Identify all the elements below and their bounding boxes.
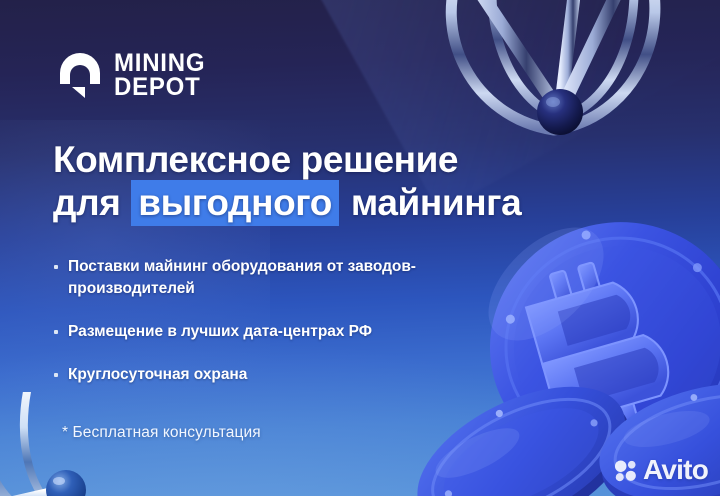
arc-chevron-logo-icon (57, 53, 103, 99)
list-item-label: Круглосуточная охрана (68, 364, 247, 386)
brand-logo: MINING DEPOT (57, 52, 209, 100)
bullet-dot-icon (54, 373, 58, 377)
logo-text-depot: DEPOT (114, 76, 205, 100)
list-item: Размещение в лучших дата-центрах РФ (50, 321, 450, 343)
bullet-dot-icon (54, 330, 58, 334)
bullet-dot-icon (54, 265, 58, 269)
avito-wordmark: Avito (643, 456, 708, 484)
avito-watermark: Avito (614, 456, 708, 484)
molecule-chrome-icon (0, 392, 138, 496)
list-item: Поставки майнинг оборудования от заводов… (50, 256, 450, 300)
headline-prefix: для (53, 182, 130, 223)
footnote-text: * Бесплатная консультация (62, 424, 261, 442)
headline-suffix: майнинга (341, 182, 521, 223)
feature-list: Поставки майнинг оборудования от заводов… (50, 256, 450, 407)
promo-banner: MINING DEPOT Комплексное решение для выг… (0, 0, 720, 496)
headline-highlight: выгодного (131, 180, 339, 226)
headline-line-2: для выгодного майнинга (53, 182, 573, 225)
list-item: Круглосуточная охрана (50, 364, 450, 386)
list-item-label: Поставки майнинг оборудования от заводов… (68, 256, 450, 300)
list-item-label: Размещение в лучших дата-центрах РФ (68, 321, 372, 343)
avito-dots-icon (614, 459, 637, 482)
headline-line-1: Комплексное решение (53, 139, 573, 182)
page-title: Комплексное решение для выгодного майнин… (53, 139, 573, 225)
